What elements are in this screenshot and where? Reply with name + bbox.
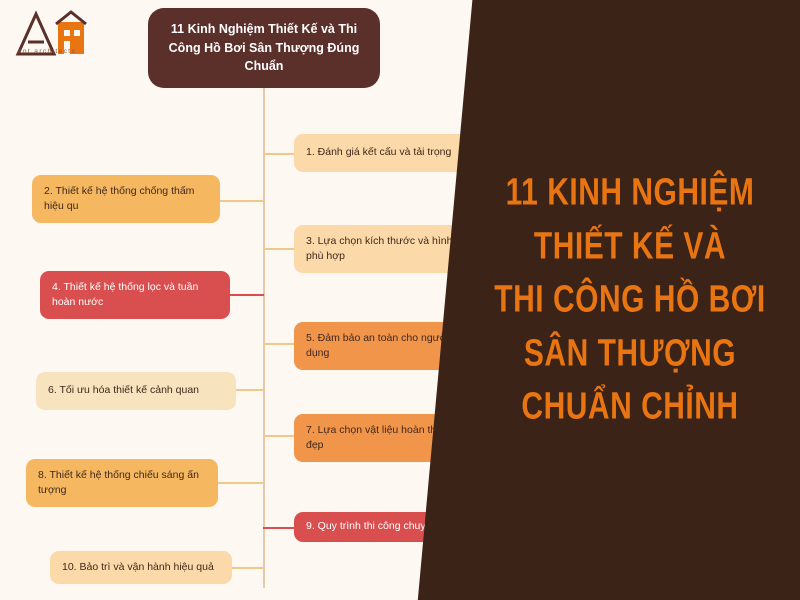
node-label-1: 1. Đánh giá kết cấu và tải trọng bbox=[306, 145, 451, 160]
connector-10 bbox=[231, 567, 264, 569]
right-title-line-3: THI CÔNG HỒ BƠI bbox=[494, 280, 765, 320]
right-panel-title: 11 KINH NGHIỆM THIẾT KẾ VÀ THI CÔNG HỒ B… bbox=[460, 0, 800, 600]
connector-3 bbox=[263, 248, 297, 250]
infographic-canvas: 11 KINH NGHIỆM THIẾT KẾ VÀ THI CÔNG HỒ B… bbox=[0, 0, 800, 600]
node-item-6[interactable]: 6. Tối ưu hóa thiết kế cảnh quan bbox=[36, 372, 236, 410]
connector-1 bbox=[263, 153, 297, 155]
connector-6 bbox=[236, 389, 264, 391]
right-title-line-4: SÂN THƯỢNG bbox=[524, 333, 736, 373]
right-title-line-5: CHUẨN CHỈNH bbox=[521, 387, 738, 427]
node-label-2: 2. Thiết kế hệ thống chống thấm hiệu qu bbox=[44, 184, 208, 214]
connector-9 bbox=[263, 527, 297, 529]
node-label-10: 10. Bảo trì và vận hành hiệu quả bbox=[62, 560, 214, 575]
node-item-10[interactable]: 10. Bảo trì và vận hành hiệu quả bbox=[50, 551, 232, 584]
connector-4 bbox=[228, 294, 264, 296]
page-title: 11 Kinh Nghiệm Thiết Kế và Thi Công Hồ B… bbox=[148, 8, 380, 88]
right-title-line-2: THIẾT KẾ VÀ bbox=[534, 226, 726, 266]
connector-2 bbox=[216, 200, 264, 202]
right-title-line-1: 11 KINH NGHIỆM bbox=[506, 173, 755, 213]
connector-5 bbox=[263, 343, 297, 345]
node-label-4: 4. Thiết kế hệ thống lọc và tuần hoàn nư… bbox=[52, 280, 218, 310]
logo-caption: ant architects bbox=[8, 48, 86, 55]
timeline-spine bbox=[263, 88, 265, 588]
ant-architects-logo-icon bbox=[12, 8, 98, 70]
node-label-8: 8. Thiết kế hệ thống chiếu sáng ấn tượng bbox=[38, 468, 206, 498]
node-item-1[interactable]: 1. Đánh giá kết cấu và tải trọng bbox=[294, 134, 480, 172]
connector-8 bbox=[217, 482, 264, 484]
node-label-6: 6. Tối ưu hóa thiết kế cảnh quan bbox=[48, 383, 199, 398]
node-item-4[interactable]: 4. Thiết kế hệ thống lọc và tuần hoàn nư… bbox=[40, 271, 230, 319]
node-item-2[interactable]: 2. Thiết kế hệ thống chống thấm hiệu qu bbox=[32, 175, 220, 223]
connector-7 bbox=[263, 435, 297, 437]
node-label-9: 9. Quy trình thi công chuyên bbox=[306, 519, 437, 534]
node-item-8[interactable]: 8. Thiết kế hệ thống chiếu sáng ấn tượng bbox=[26, 459, 218, 507]
